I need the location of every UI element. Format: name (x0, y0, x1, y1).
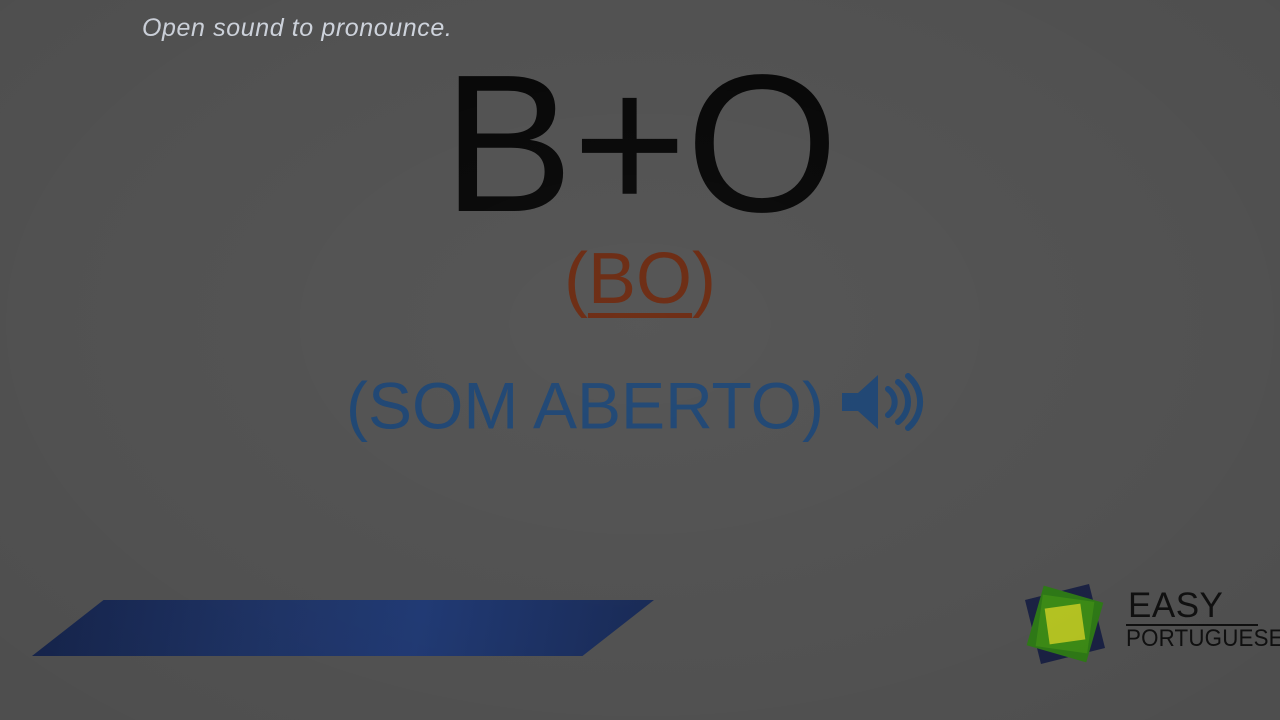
page-title: B+O (0, 46, 1280, 242)
diamond-squares-logo-icon (1018, 580, 1112, 668)
brand-logo-text: EASY PORTUGUESE (1126, 590, 1258, 660)
brand-logo-line1: EASY (1126, 590, 1258, 623)
phonetic-letters: BO (588, 239, 692, 319)
tip-banner (32, 600, 654, 656)
phonetic-line: (BO) (0, 243, 1280, 315)
description-label: (SOM ABERTO) (346, 369, 824, 443)
speaker-sound-icon[interactable] (838, 371, 934, 433)
phonetic-open-paren: ( (564, 239, 588, 319)
brand-logo: EASY PORTUGUESE (1014, 578, 1258, 670)
brand-logo-line2: PORTUGUESE (1126, 627, 1249, 651)
phonetic-close-paren: ) (692, 239, 716, 319)
slide-canvas: B+O (BO) (SOM ABERTO) Open sound to pron… (0, 0, 1280, 720)
description-line: (SOM ABERTO) (0, 367, 1280, 439)
tip-banner-label: Open sound to pronounce. (142, 0, 452, 56)
